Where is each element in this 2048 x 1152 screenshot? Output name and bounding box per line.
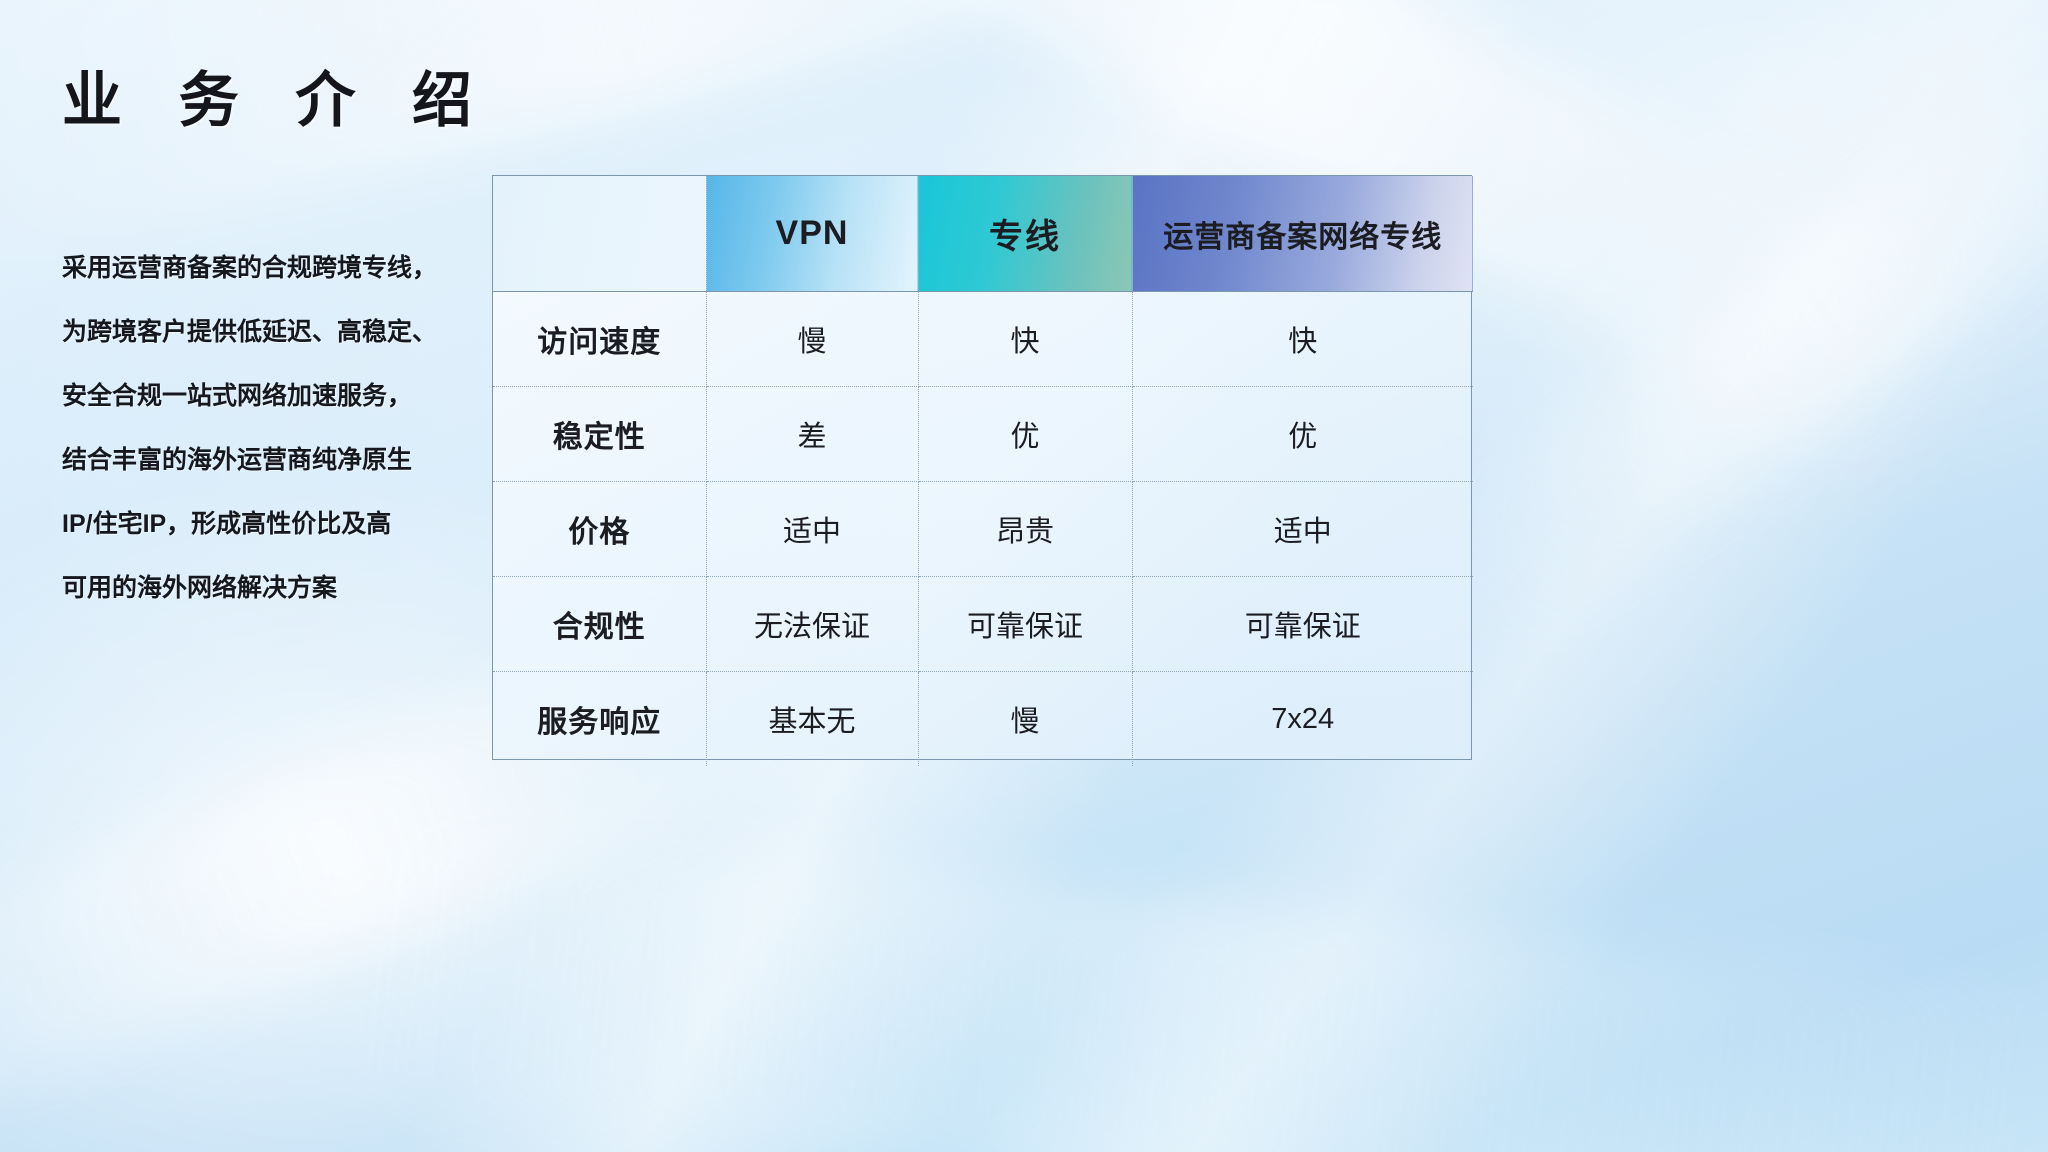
header-cell-vpn: VPN xyxy=(706,176,918,292)
cell-dedicated-line: 慢 xyxy=(918,672,1132,767)
intro-line: IP/住宅IP，形成高性价比及高 xyxy=(62,492,492,556)
header-cell-dedicated-line: 专线 xyxy=(918,176,1132,292)
page-title: 业 务 介 绍 xyxy=(62,52,492,139)
table-row: 合规性 无法保证 可靠保证 可靠保证 xyxy=(493,577,1473,672)
intro-paragraph: 采用运营商备案的合规跨境专线， 为跨境客户提供低延迟、高稳定、 安全合规一站式网… xyxy=(62,236,492,620)
cell-vpn: 慢 xyxy=(706,292,918,387)
intro-line: 可用的海外网络解决方案 xyxy=(62,556,492,620)
intro-line: 为跨境客户提供低延迟、高稳定、 xyxy=(62,300,492,364)
row-label: 价格 xyxy=(493,482,706,577)
cell-dedicated-line: 快 xyxy=(918,292,1132,387)
table-row: 价格 适中 昂贵 适中 xyxy=(493,482,1473,577)
cell-dedicated-line: 可靠保证 xyxy=(918,577,1132,672)
slide-canvas: 业 务 介 绍 采用运营商备案的合规跨境专线， 为跨境客户提供低延迟、高稳定、 … xyxy=(0,0,2048,1152)
cell-vpn: 基本无 xyxy=(706,672,918,767)
row-label: 稳定性 xyxy=(493,387,706,482)
cell-carrier-line: 优 xyxy=(1132,387,1473,482)
table-row: 稳定性 差 优 优 xyxy=(493,387,1473,482)
intro-line: 结合丰富的海外运营商纯净原生 xyxy=(62,428,492,492)
row-label: 合规性 xyxy=(493,577,706,672)
cell-vpn: 适中 xyxy=(706,482,918,577)
header-cell-carrier-line: 运营商备案网络专线 xyxy=(1132,176,1473,292)
cell-carrier-line: 可靠保证 xyxy=(1132,577,1473,672)
cell-vpn: 差 xyxy=(706,387,918,482)
cell-carrier-line: 7x24 xyxy=(1132,672,1473,767)
comparison-table: VPN 专线 运营商备案网络专线 访问速度 慢 快 快 稳定性 差 优 优 xyxy=(492,175,1472,760)
header-cell-blank xyxy=(493,176,706,292)
intro-line: 安全合规一站式网络加速服务， xyxy=(62,364,492,428)
table-row: 访问速度 慢 快 快 xyxy=(493,292,1473,387)
row-label: 访问速度 xyxy=(493,292,706,387)
cell-vpn: 无法保证 xyxy=(706,577,918,672)
row-label: 服务响应 xyxy=(493,672,706,767)
cell-carrier-line: 快 xyxy=(1132,292,1473,387)
table-header-row: VPN 专线 运营商备案网络专线 xyxy=(493,176,1473,292)
cell-dedicated-line: 优 xyxy=(918,387,1132,482)
intro-line: 采用运营商备案的合规跨境专线， xyxy=(62,236,492,300)
table-row: 服务响应 基本无 慢 7x24 xyxy=(493,672,1473,767)
cell-carrier-line: 适中 xyxy=(1132,482,1473,577)
cell-dedicated-line: 昂贵 xyxy=(918,482,1132,577)
